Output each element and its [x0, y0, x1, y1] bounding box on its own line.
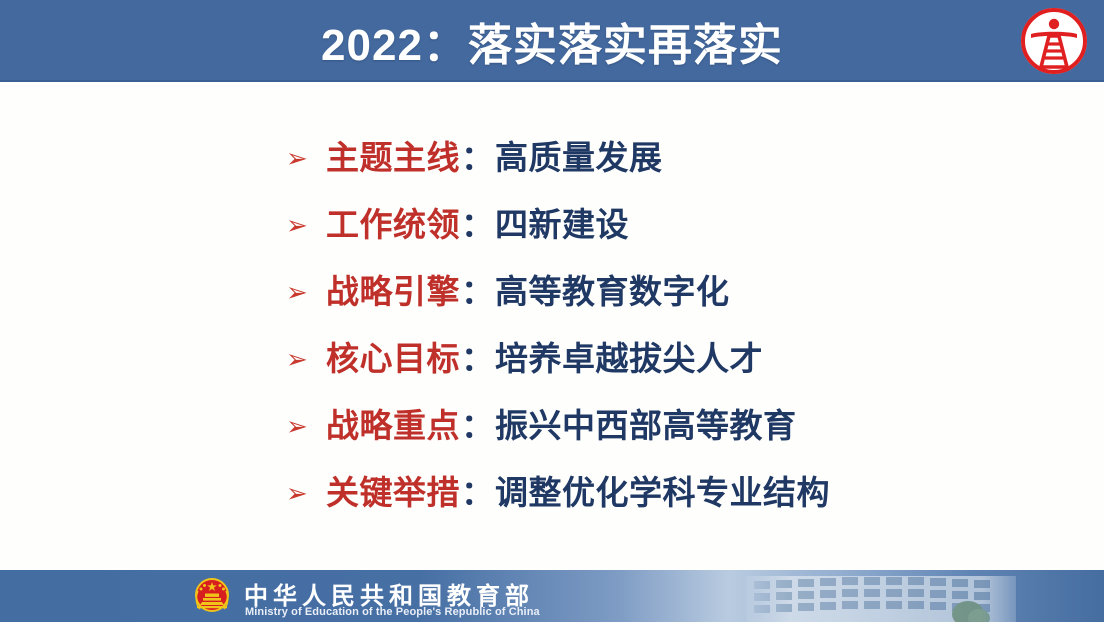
arrow-bullet-icon: ➢ — [286, 480, 326, 506]
bullet-value: 高等教育数字化 — [495, 265, 730, 313]
bullet-separator: ： — [460, 399, 495, 447]
bullet-value: 培养卓越拔尖人才 — [495, 332, 763, 380]
national-emblem-icon — [190, 574, 234, 618]
university-emblem-icon — [1018, 5, 1090, 77]
header-bar: 2022：落实落实再落实 — [0, 0, 1104, 82]
bullet-separator: ： — [460, 131, 495, 179]
bullet-separator: ： — [460, 265, 495, 313]
bullet-label: 战略重点 — [326, 399, 460, 447]
list-item: ➢ 战略引擎 ： 高等教育数字化 — [286, 265, 1046, 332]
list-item: ➢ 工作统领 ： 四新建设 — [286, 198, 1046, 265]
bullet-label: 主题主线 — [326, 131, 460, 179]
bullet-list: ➢ 主题主线 ： 高质量发展 ➢ 工作统领 ： 四新建设 ➢ 战略引擎 ： 高等… — [286, 131, 1046, 533]
bullet-value: 高质量发展 — [495, 131, 663, 179]
list-item: ➢ 核心目标 ： 培养卓越拔尖人才 — [286, 332, 1046, 399]
arrow-bullet-icon: ➢ — [286, 346, 326, 372]
arrow-bullet-icon: ➢ — [286, 413, 326, 439]
bullet-label: 核心目标 — [326, 332, 460, 380]
bullet-value: 调整优化学科专业结构 — [495, 466, 830, 514]
list-item: ➢ 关键举措 ： 调整优化学科专业结构 — [286, 466, 1046, 533]
arrow-bullet-icon: ➢ — [286, 145, 326, 171]
bullet-label: 工作统领 — [326, 198, 460, 246]
bullet-value: 振兴中西部高等教育 — [495, 399, 797, 447]
bullet-label: 关键举措 — [326, 466, 460, 514]
arrow-bullet-icon: ➢ — [286, 279, 326, 305]
bullet-separator: ： — [460, 332, 495, 380]
ministry-building-photo — [736, 570, 1036, 622]
slide-content: ➢ 主题主线 ： 高质量发展 ➢ 工作统领 ： 四新建设 ➢ 战略引擎 ： 高等… — [0, 84, 1104, 570]
list-item: ➢ 主题主线 ： 高质量发展 — [286, 131, 1046, 198]
arrow-bullet-icon: ➢ — [286, 212, 326, 238]
list-item: ➢ 战略重点 ： 振兴中西部高等教育 — [286, 399, 1046, 466]
bullet-value: 四新建设 — [495, 198, 629, 246]
footer-bar: 中华人民共和国教育部 Ministry of Education of the … — [0, 570, 1104, 622]
footer-org-name-en: Ministry of Education of the People's Re… — [245, 606, 540, 618]
page-title: 2022：落实落实再落实 — [0, 0, 1104, 82]
bullet-separator: ： — [460, 466, 495, 514]
bullet-label: 战略引擎 — [326, 265, 460, 313]
bullet-separator: ： — [460, 198, 495, 246]
